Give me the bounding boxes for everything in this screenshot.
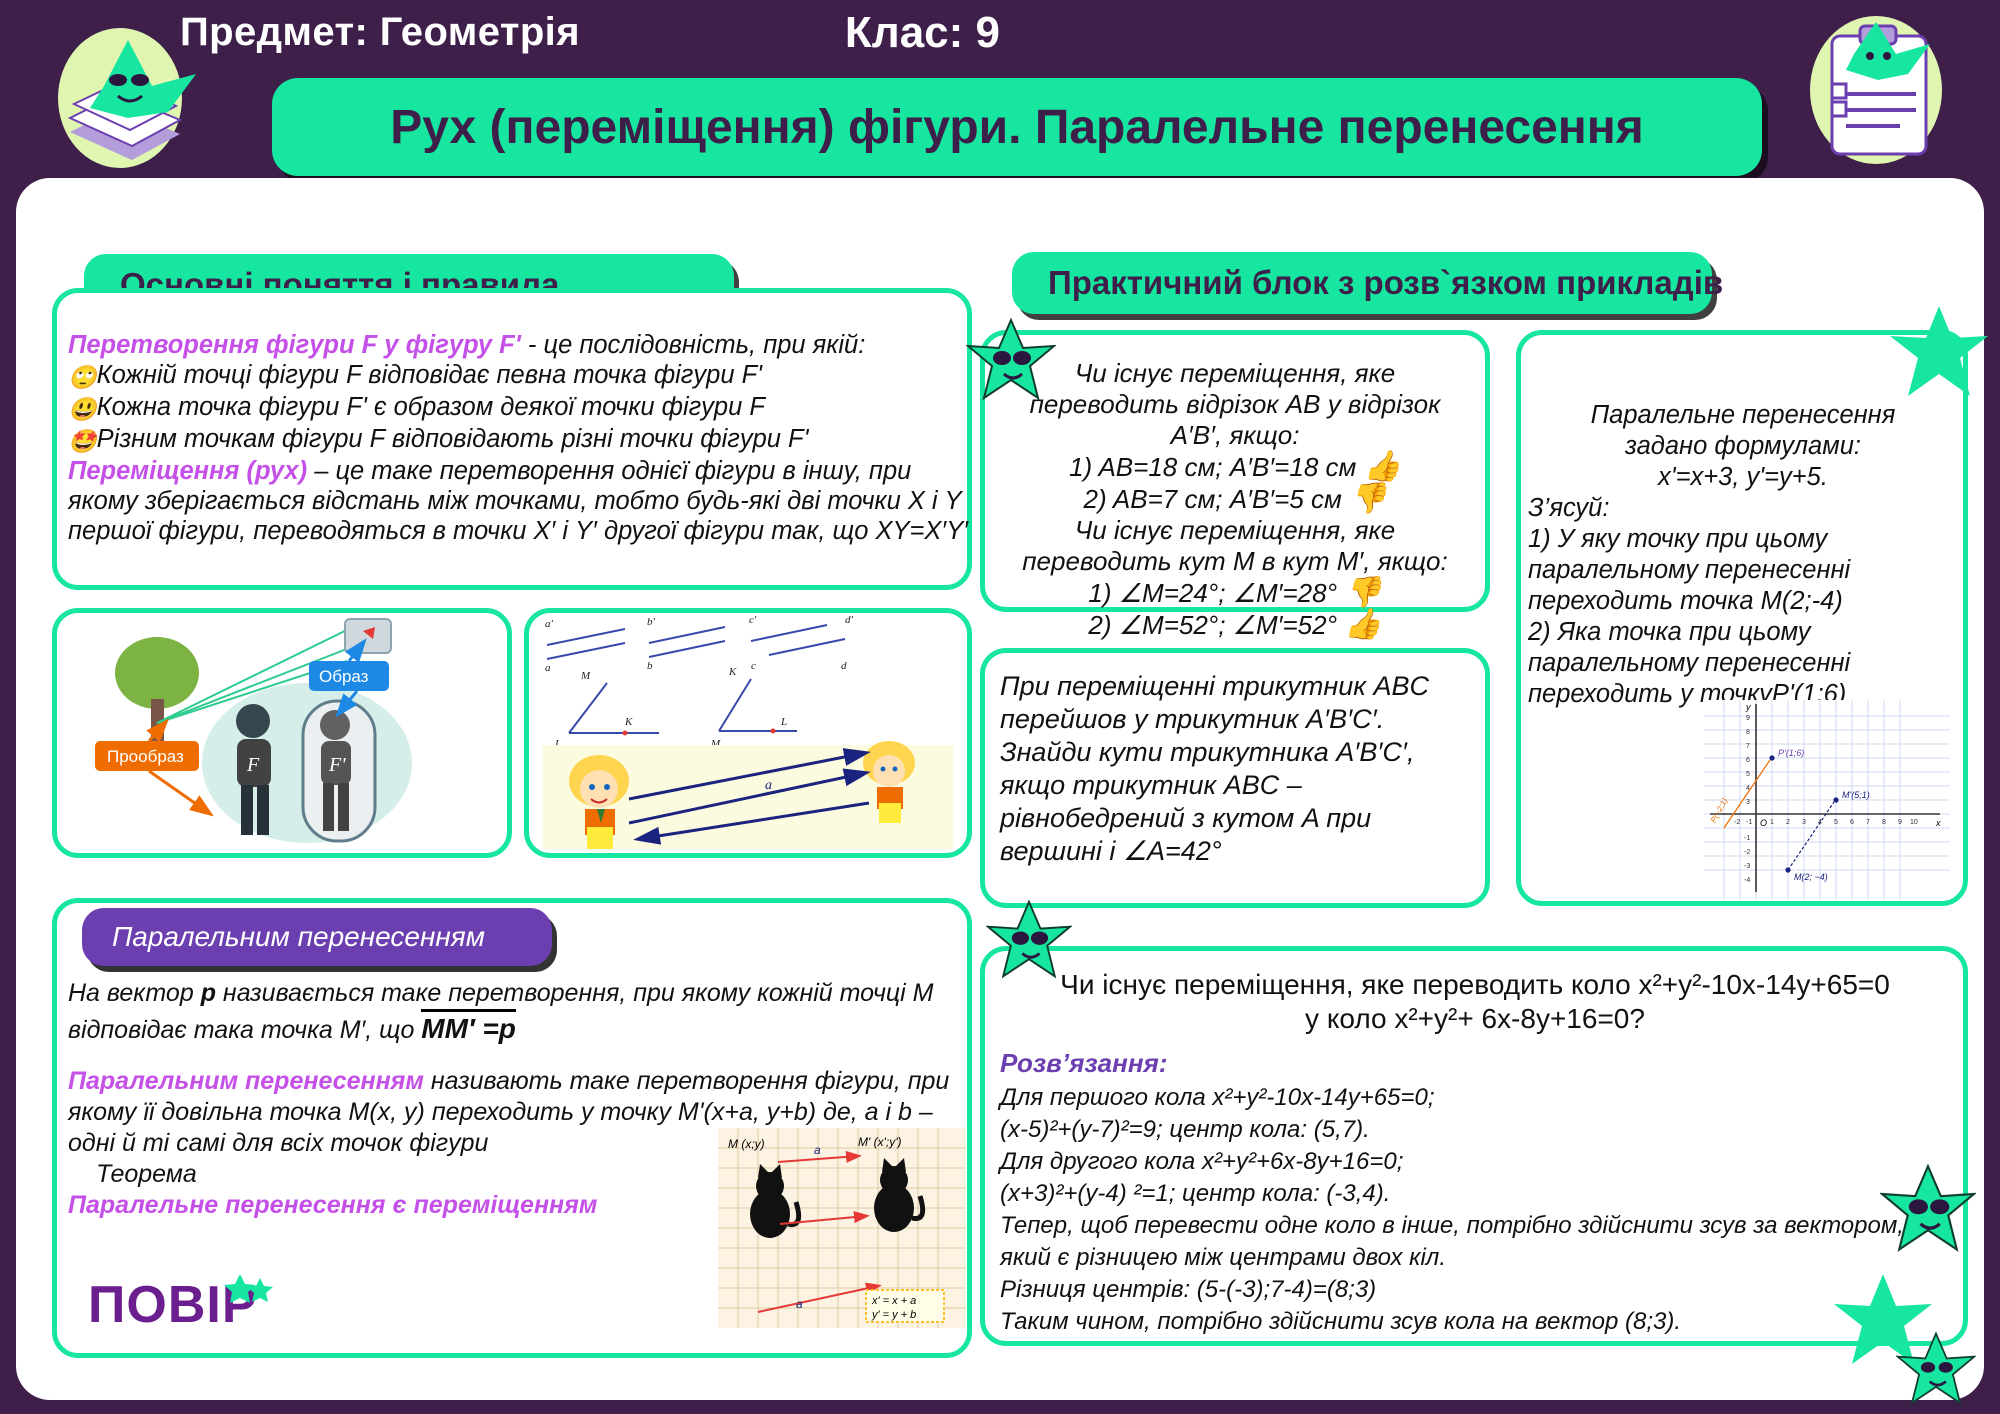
svg-text:-2: -2 — [1744, 849, 1750, 856]
svg-text:10: 10 — [1910, 819, 1918, 826]
solution-step-2: (x-5)²+(y-7)²=9; центр кола: (5,7). — [1000, 1114, 1950, 1146]
svg-text:K: K — [728, 666, 737, 678]
page-title: Рух (переміщення) фігури. Паралельне пер… — [272, 78, 1762, 176]
svg-text:d: d — [841, 660, 847, 672]
svg-text:7: 7 — [1746, 743, 1750, 750]
concept-term-transformation-rest: - це послідовність, при якій: — [521, 331, 865, 359]
svg-text:5: 5 — [1746, 771, 1750, 778]
svg-text:6: 6 — [1850, 819, 1854, 826]
page-title-text: Рух (переміщення) фігури. Паралельне пер… — [390, 100, 1644, 155]
solution-steps: Для першого кола x²+y²-10x-14y+65=0; (x-… — [1000, 1082, 1950, 1338]
figure-f-label: F — [246, 754, 260, 776]
svg-text:d': d' — [845, 614, 854, 626]
practice-card-formulas-text: Паралельне перенесення задано формулами:… — [1528, 400, 1958, 710]
svg-text:b': b' — [647, 616, 656, 628]
concept-bullet-1: 🙄Кожній точці фігури F відповідає певна … — [68, 360, 968, 392]
c2-prompt: З’ясуй: — [1528, 493, 1958, 524]
cat-grid-illustration: М (х;у) М' (х';у') a a x' = x + a y' = y… — [718, 1128, 966, 1328]
c1-line5: переводить кут M в кут M′, якщо: — [992, 546, 1478, 577]
graph-point-m-prime-label: M'(5;1) — [1842, 790, 1870, 800]
coordinate-graph: x y O -2-1 1234 5678 910 9876 543 -1-2-3… — [1704, 700, 1950, 900]
section-header-practice: Практичний блок з розв`язком прикладів — [1012, 252, 1712, 314]
concepts-text: Перетворення фігури F у фігуру F' - це п… — [68, 330, 968, 546]
mirror-illustration: F F' Прообраз Образ — [57, 613, 507, 853]
solution-step-6: Різниця центрів: (5-(-3);7-4)=(8;3) — [1000, 1274, 1950, 1306]
cat-formula-line2: y' = y + b — [871, 1309, 916, 1321]
concept-term-motion: Переміщення (рух) — [68, 457, 307, 485]
thumbs-up-icon: 👍 — [1364, 450, 1401, 483]
concept-bullet-3: 🤩Різним точкам фігури F відповідають різ… — [68, 424, 968, 456]
concept-term-transformation: Перетворення фігури F у фігуру F' — [68, 331, 521, 359]
page-header: Предмет: Геометрія Клас: 9 Рух (переміще… — [0, 0, 2000, 190]
image-caption: Образ — [319, 667, 369, 686]
svg-text:8: 8 — [1882, 819, 1886, 826]
svg-text:-4: -4 — [1744, 877, 1750, 884]
thumbs-down-icon-2: 👎 — [1344, 576, 1381, 609]
c2-item2: 2) Яка точка при цьому паралельному пере… — [1528, 617, 1958, 710]
c1-item1: 1) AB=18 см; A′B′=18 см — [1069, 452, 1356, 482]
thumbs-down-icon: 👎 — [1349, 482, 1386, 515]
cat-point-m-prime-label: М' (х';у') — [858, 1135, 902, 1149]
svg-text:b: b — [647, 660, 653, 672]
svg-text:3: 3 — [1746, 799, 1750, 806]
pp-term: Паралельним перенесенням — [68, 1067, 424, 1095]
star-mascot-icon-1 — [966, 316, 1056, 406]
svg-text:5: 5 — [1834, 819, 1838, 826]
mirror-illustration-card: F F' Прообраз Образ — [52, 608, 512, 858]
pp-line1-a: На вектор — [68, 979, 201, 1007]
concept-bullet-3-text: Різним точкам фігури F відповідають різн… — [97, 425, 809, 453]
clipboard-mascot-icon — [1788, 10, 1958, 170]
svg-text:1: 1 — [1770, 819, 1774, 826]
star-struck-emoji-icon: 🤩 — [68, 428, 97, 454]
graph-x-label: x — [1935, 818, 1941, 828]
c1-line1: Чи існує переміщення, яке — [992, 358, 1478, 389]
svg-text:-3: -3 — [1744, 863, 1750, 870]
practice-card-circles-question: Чи існує переміщення, яке переводить кол… — [1000, 968, 1950, 1036]
svg-text:K: K — [624, 716, 633, 728]
star-mascot-icon-3 — [1880, 1162, 1976, 1258]
pp-formula: MM′ =p — [421, 1009, 516, 1044]
svg-text:a: a — [545, 662, 551, 674]
svg-text:3: 3 — [1802, 819, 1806, 826]
c2-line2: задано формулами: — [1528, 431, 1958, 462]
c1-line4: Чи існує переміщення, яке — [992, 515, 1478, 546]
subject-label: Предмет: Геометрія — [180, 10, 580, 55]
svg-text:c: c — [751, 660, 756, 672]
parallel-translation-pill: Паралельним перенесенням — [82, 908, 552, 966]
graph-y-label: y — [1745, 702, 1751, 712]
cat-point-m-label: М (х;у) — [728, 1137, 765, 1151]
svg-text:-1: -1 — [1744, 835, 1750, 842]
c1-line2: переводить відрізок AB у відрізок — [992, 389, 1478, 420]
c1-item2: 2) AB=7 см; A′B′=5 см — [1084, 484, 1342, 514]
preimage-caption: Прообраз — [107, 747, 184, 766]
graph-point-m-label: M(2; −4) — [1794, 872, 1828, 882]
c1-item4: 2) ∠M=52°; ∠M′=52° — [1088, 610, 1337, 640]
pp-vector-p: p — [201, 979, 216, 1007]
star-mascot-icon-2 — [986, 898, 1072, 984]
section-header-practice-label: Практичний блок з розв`язком прикладів — [1012, 264, 1723, 302]
practice-card-segments-text: Чи існує переміщення, яке переводить від… — [992, 358, 1478, 641]
svg-text:a': a' — [545, 618, 554, 630]
translation-illustration: a' a b' b c' d' cd MKL KLM — [529, 613, 967, 853]
cat-formula-line1: x' = x + a — [871, 1295, 916, 1307]
c1-item3: 1) ∠M=24°; ∠M′=28° — [1088, 578, 1337, 608]
translation-illustration-card: a' a b' b c' d' cd MKL KLM — [524, 608, 972, 858]
star-burst-icon-1 — [1884, 300, 1994, 410]
solution-label: Розв’язання: — [1000, 1048, 1168, 1079]
svg-text:9: 9 — [1746, 715, 1750, 722]
solution-step-4: (x+3)²+(y-4) ²=1; центр кола: (-3,4). — [1000, 1178, 1950, 1210]
cat-vector-a-top: a — [814, 1143, 821, 1157]
practice-card-triangle-text: При переміщенні трикутник ABC перейшов у… — [1000, 670, 1478, 868]
concept-bullet-2: 😃Кожна точка фігури F' є образом деякої … — [68, 392, 968, 424]
svg-text:8: 8 — [1746, 729, 1750, 736]
solution-step-1: Для першого кола x²+y²-10x-14y+65=0; — [1000, 1082, 1950, 1114]
vector-a-label: a — [765, 778, 772, 793]
parallel-translation-pill-label: Паралельним перенесенням — [82, 921, 485, 953]
solution-step-7: Таким чином, потрібно здійснити зсув кол… — [1000, 1306, 1950, 1338]
thumbs-up-icon-2: 👍 — [1344, 608, 1381, 641]
svg-text:c': c' — [749, 614, 757, 626]
cat-vector-a-bottom: a — [796, 1297, 803, 1311]
solution-step-5: Тепер, щоб перевести одне коло в інше, п… — [1000, 1210, 1950, 1274]
rolling-eyes-emoji-icon: 🙄 — [68, 364, 97, 390]
svg-text:M: M — [580, 670, 591, 682]
grinning-face-emoji-icon: 😃 — [68, 396, 97, 422]
svg-text:L: L — [780, 716, 787, 728]
graph-point-p-label: P'(1;6) — [1778, 748, 1804, 758]
c1-line3: A′B′, якщо: — [992, 420, 1478, 451]
svg-text:9: 9 — [1898, 819, 1902, 826]
c4-q-line2: у коло x²+y²+ 6x-8y+16=0? — [1000, 1002, 1950, 1036]
grade-label: Клас: 9 — [845, 8, 1000, 58]
c2-line3: x'=x+3, y'=y+5. — [1528, 462, 1958, 493]
svg-text:-1: -1 — [1746, 819, 1752, 826]
graph-origin-label: O — [1760, 818, 1767, 828]
solution-step-3: Для другого кола x²+y²+6x-8y+16=0; — [1000, 1146, 1950, 1178]
svg-text:2: 2 — [1786, 819, 1790, 826]
brand-logo: ПОВІР — [88, 1270, 318, 1353]
figure-f-prime-label: F' — [328, 754, 346, 776]
concept-bullet-2-text: Кожна точка фігури F' є образом деякої т… — [97, 393, 765, 421]
c2-item1: 1) У яку точку при цьому паралельному пе… — [1528, 524, 1958, 617]
c4-q-line1: Чи існує переміщення, яке переводить кол… — [1000, 968, 1950, 1002]
concept-bullet-1-text: Кожній точці фігури F відповідає певна т… — [97, 361, 762, 389]
svg-text:6: 6 — [1746, 757, 1750, 764]
svg-text:7: 7 — [1866, 819, 1870, 826]
svg-text:-2: -2 — [1734, 819, 1740, 826]
star-mascot-icon-4 — [1896, 1330, 1976, 1410]
